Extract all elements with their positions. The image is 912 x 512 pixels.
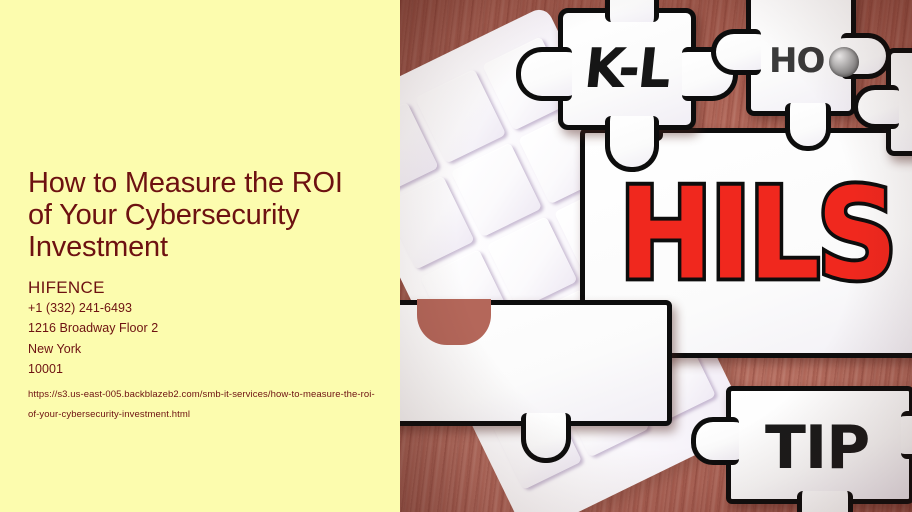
puzzle-knob [901,411,912,459]
article-info-panel: How to Measure the ROI of Your Cybersecu… [0,0,400,512]
puzzle-piece-edge [886,48,912,156]
article-url[interactable]: https://s3.us-east-005.backblazeb2.com/s… [28,385,380,424]
contact-address-line1: 1216 Broadway Floor 2 [28,318,400,338]
puzzle-notch [417,299,491,345]
puzzle-knob [521,413,571,463]
puzzle-label-hils: HILS [619,172,894,297]
article-info-content: How to Measure the ROI of Your Cybersecu… [28,168,400,424]
contact-city: New York [28,339,400,359]
puzzle-piece-blank [400,300,672,426]
contact-zip: 10001 [28,359,400,379]
puzzle-label-tip: TIP [765,413,869,483]
puzzle-knob [691,417,739,465]
puzzle-piece-ho: HO [746,0,856,116]
puzzle-knob [711,29,761,75]
contact-phone: +1 (332) 241-6493 [28,298,400,318]
metal-bolt-icon [829,47,859,77]
puzzle-label-ho: HO [769,41,824,81]
puzzle-knob [853,85,899,129]
puzzle-piece-tip: TIP [726,386,912,504]
puzzle-piece-kl: K-L [558,8,696,130]
poster-page: How to Measure the ROI of Your Cybersecu… [0,0,912,512]
brand-name: HIFENCE [28,278,400,298]
puzzle-knob [797,491,853,512]
page-title: How to Measure the ROI of Your Cybersecu… [28,168,400,264]
puzzle-label-kl: K-L [557,10,697,128]
puzzle-knob [785,103,831,151]
hero-photo: HILS K-L HO [400,0,912,512]
